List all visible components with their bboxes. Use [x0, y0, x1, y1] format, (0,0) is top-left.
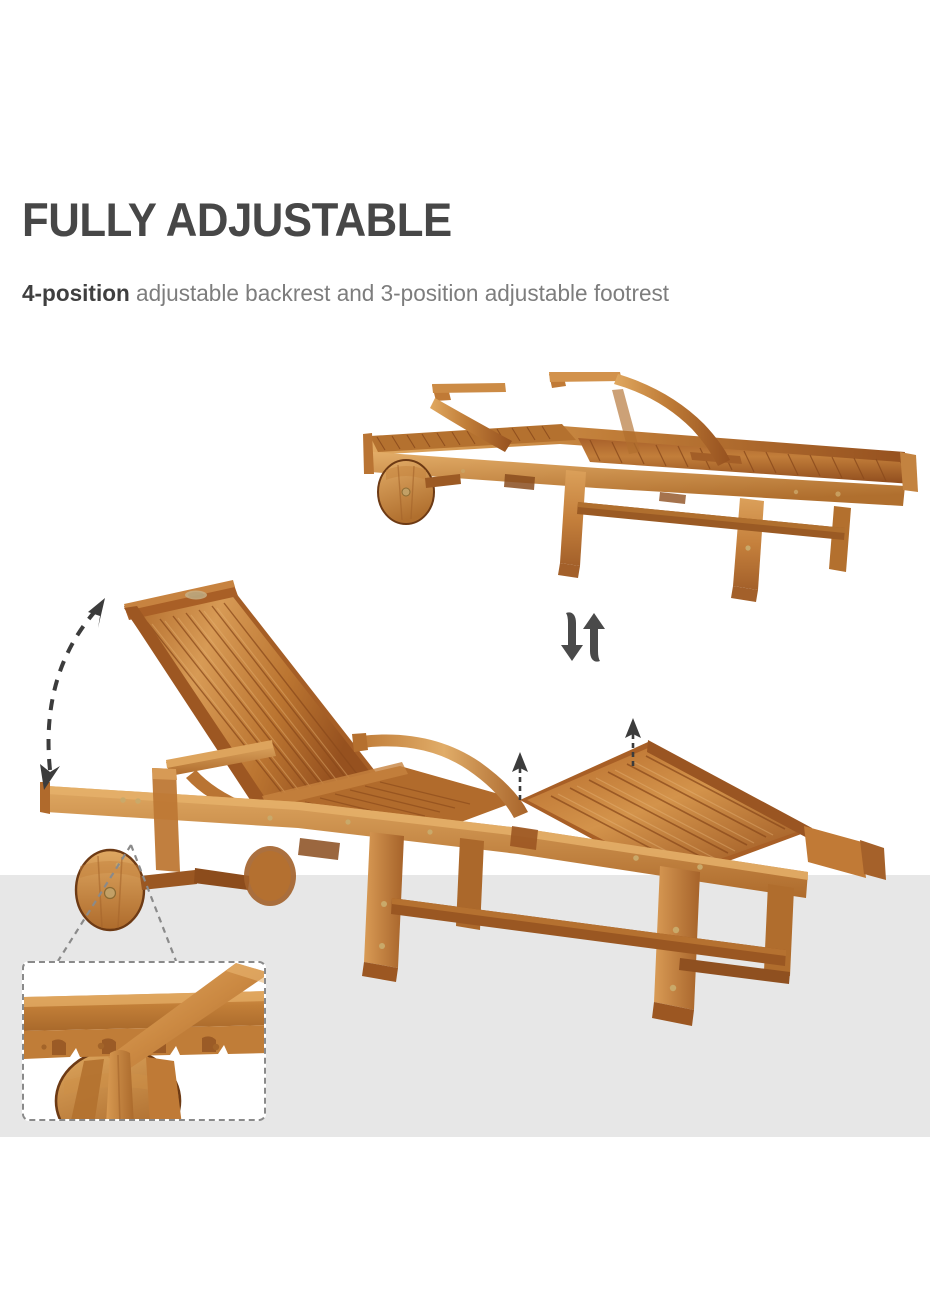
product-feature-image: FULLY ADJUSTABLE 4-position adjustable b… — [0, 0, 930, 1303]
page-title: FULLY ADJUSTABLE — [22, 196, 452, 243]
backrest-range-arc-arrow — [40, 598, 105, 790]
footrest-lift-arrows — [512, 718, 641, 800]
subtitle-rest: adjustable backrest and 3-position adjus… — [130, 280, 669, 306]
subtitle-emphasis: 4-position — [22, 280, 130, 306]
ratchet-notch-detail — [22, 961, 266, 1121]
page-subtitle: 4-position adjustable backrest and 3-pos… — [22, 282, 669, 306]
